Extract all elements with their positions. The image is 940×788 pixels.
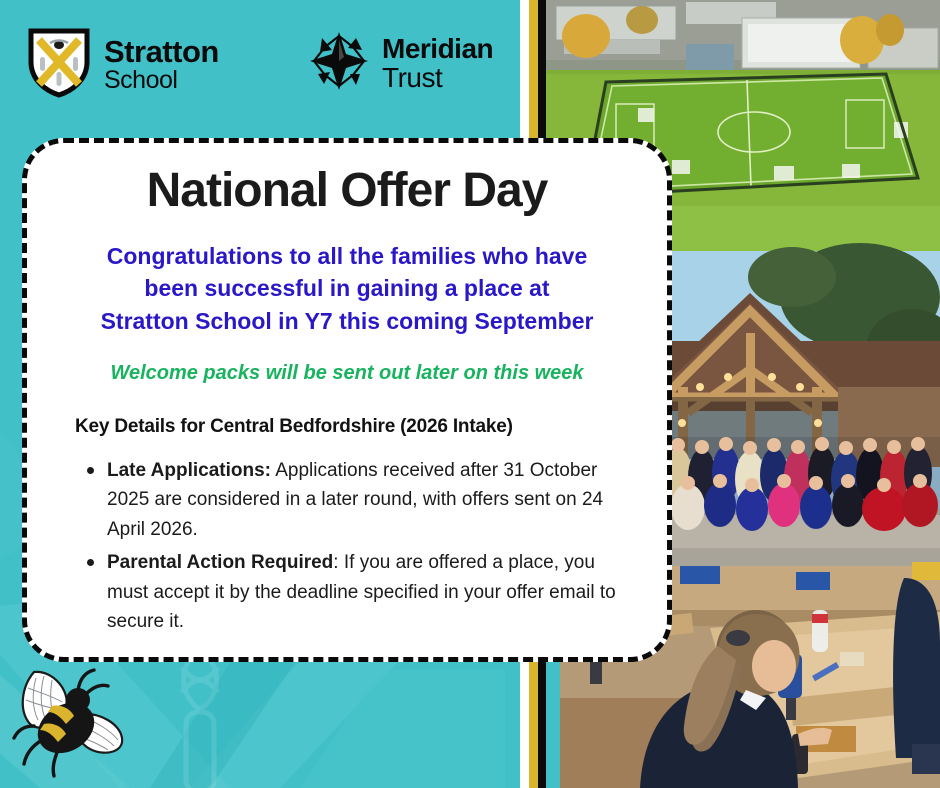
stratton-wordmark-line1: Stratton	[104, 36, 219, 68]
bullet-label-parental-action: Parental Action Required	[107, 552, 333, 573]
meridian-compass-star-icon	[308, 30, 370, 97]
bumblebee-illustration-icon	[8, 660, 136, 778]
congratulations-line-1: Congratulations to all the families who …	[107, 243, 588, 269]
stratton-wordmark: Stratton School	[104, 36, 219, 93]
page-title: National Offer Day	[53, 165, 641, 218]
crest-watermark	[120, 640, 280, 788]
meridian-wordmark-line1: Meridian	[382, 35, 493, 64]
offer-day-card: National Offer Day Congratulations to al…	[22, 138, 672, 662]
welcome-packs-note: Welcome packs will be sent out later on …	[53, 360, 641, 386]
poster-canvas: Stratton School	[0, 0, 940, 788]
meridian-wordmark-line2: Trust	[382, 64, 493, 93]
bullet-label-late-applications: Late Applications:	[107, 460, 271, 481]
logo-bar: Stratton School	[0, 0, 520, 130]
key-details-heading: Key Details for Central Bedfordshire (20…	[53, 416, 641, 438]
congratulations-message: Congratulations to all the families who …	[53, 240, 641, 338]
congratulations-line-3: Stratton School in Y7 this coming Septem…	[101, 308, 594, 334]
stratton-wordmark-line2: School	[104, 68, 219, 94]
key-details-list: Late Applications: Applications received…	[53, 456, 641, 637]
stratton-school-logo: Stratton School	[26, 26, 219, 103]
meridian-trust-logo: Meridian Trust	[308, 30, 493, 97]
list-item: Late Applications: Applications received…	[83, 456, 641, 544]
congratulations-line-2: been successful in gaining a place at	[144, 275, 549, 301]
list-item: Parental Action Required: If you are off…	[83, 548, 641, 636]
meridian-wordmark: Meridian Trust	[382, 35, 493, 92]
stratton-shield-crest-icon	[26, 26, 92, 103]
